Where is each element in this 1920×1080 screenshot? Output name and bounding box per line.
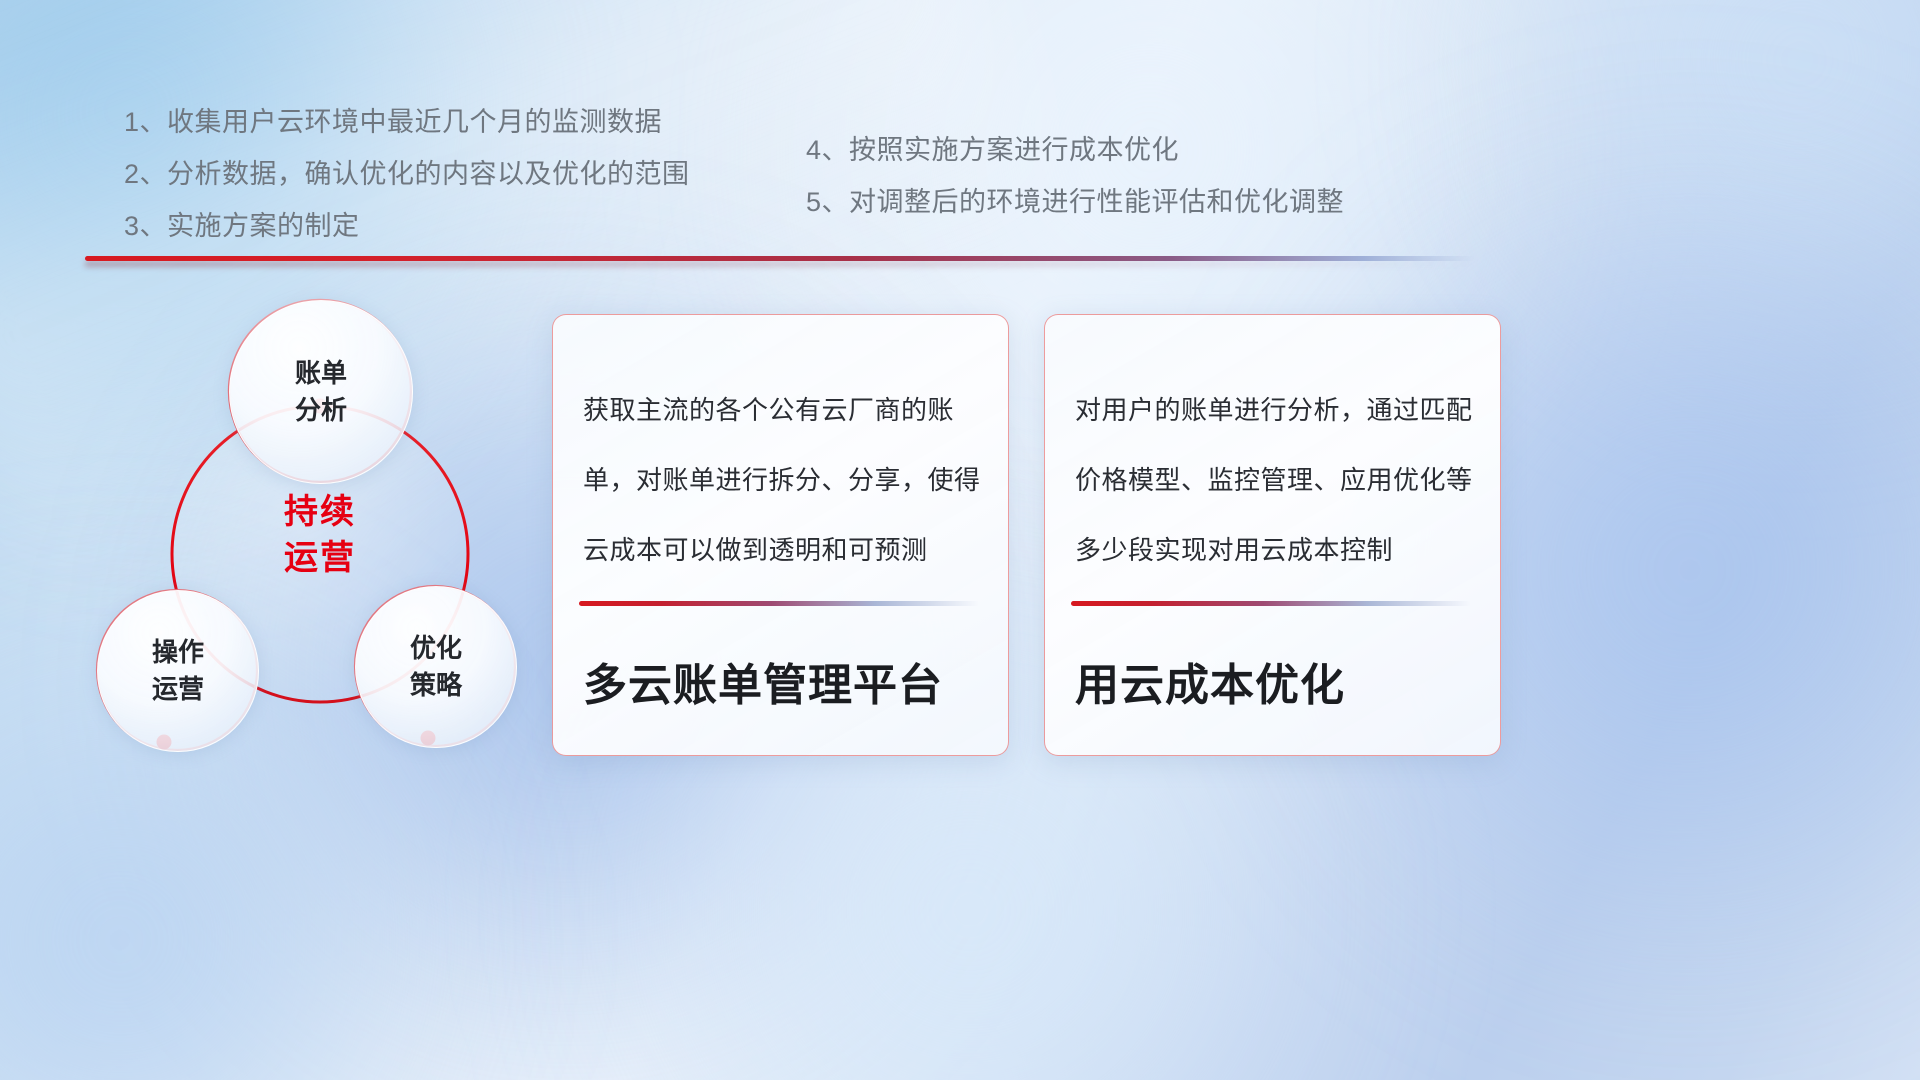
step-item-2: 2、分析数据，确认优化的内容以及优化的范围	[124, 148, 690, 200]
card-divider	[579, 601, 979, 606]
step-item-1: 1、收集用户云环境中最近几个月的监测数据	[124, 96, 690, 148]
venn-center-label: 持续 运营	[235, 489, 405, 581]
feature-card-multicloud-billing[interactable]: 获取主流的各个公有云厂商的账单，对账单进行拆分、分享，使得云成本可以做到透明和可…	[552, 314, 1009, 756]
feature-card-cloud-cost-optimization[interactable]: 对用户的账单进行分析，通过匹配价格模型、监控管理、应用优化等多少段实现对用云成本…	[1044, 314, 1501, 756]
venn-center-label-line2: 运营	[235, 535, 405, 581]
card-description: 对用户的账单进行分析，通过匹配价格模型、监控管理、应用优化等多少段实现对用云成本…	[1075, 375, 1474, 585]
card-divider	[1071, 601, 1471, 606]
steps-list-left: 1、收集用户云环境中最近几个月的监测数据 2、分析数据，确认优化的内容以及优化的…	[124, 96, 690, 252]
card-description: 获取主流的各个公有云厂商的账单，对账单进行拆分、分享，使得云成本可以做到透明和可…	[583, 375, 982, 585]
venn-diagram: 账单分析 操作运营 优化策略 持续 运营	[80, 290, 550, 770]
card-title: 多云账单管理平台	[583, 649, 988, 713]
step-item-3: 3、实施方案的制定	[124, 200, 690, 252]
steps-list-right: 4、按照实施方案进行成本优化 5、对调整后的环境进行性能评估和优化调整	[806, 124, 1344, 228]
step-item-5: 5、对调整后的环境进行性能评估和优化调整	[806, 176, 1344, 228]
venn-node-operation[interactable]: 操作运营	[97, 590, 259, 752]
step-item-4: 4、按照实施方案进行成本优化	[806, 124, 1344, 176]
header-divider-shadow	[85, 261, 1475, 267]
header-divider	[85, 256, 1475, 261]
venn-node-label: 优化策略	[410, 630, 462, 704]
venn-node-label: 操作运营	[152, 634, 204, 708]
slide-canvas: 1、收集用户云环境中最近几个月的监测数据 2、分析数据，确认优化的内容以及优化的…	[0, 0, 1920, 1080]
venn-node-optimization-strategy[interactable]: 优化策略	[355, 586, 517, 748]
venn-center-label-line1: 持续	[235, 489, 405, 535]
card-title: 用云成本优化	[1075, 649, 1480, 713]
venn-node-billing-analysis[interactable]: 账单分析	[229, 300, 413, 484]
venn-node-label: 账单分析	[295, 355, 347, 429]
